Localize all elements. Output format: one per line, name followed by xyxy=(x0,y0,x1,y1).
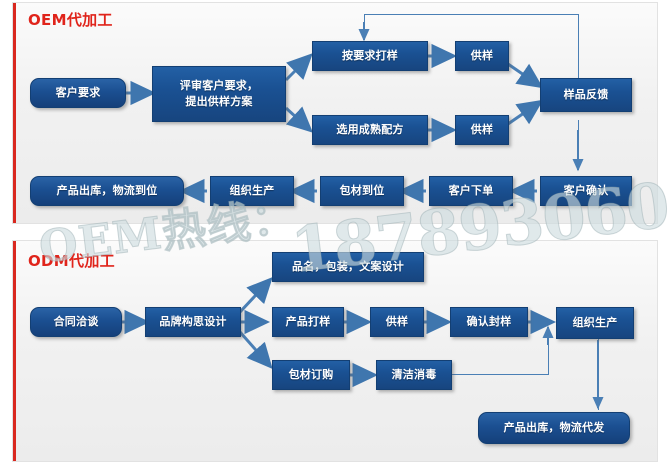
node-oem-kehuqueren[interactable]: 客户确认 xyxy=(540,176,632,206)
node-oem-kehuyaoqiu[interactable]: 客户要求 xyxy=(30,78,126,108)
panel-oem-title: OEM代加工 xyxy=(28,9,113,30)
conn-oem-feedback-across xyxy=(364,14,579,15)
node-odm-pinmingbaozhuang[interactable]: 品名，包装，文案设计 xyxy=(272,252,424,282)
panel-oem-red-rule xyxy=(13,3,16,223)
node-oem-anyaoqiudayang[interactable]: 按要求打样 xyxy=(312,41,428,71)
node-oem-gongyang-1[interactable]: 供样 xyxy=(455,41,509,71)
node-odm-qingjiexiaodu[interactable]: 清洁消毒 xyxy=(376,360,452,390)
node-oem-gongyang-2[interactable]: 供样 xyxy=(455,115,509,145)
node-odm-baocaidinggou[interactable]: 包材订购 xyxy=(272,360,350,390)
node-oem-baocaidaowei[interactable]: 包材到位 xyxy=(320,176,404,206)
node-oem-chukuwuliu[interactable]: 产品出库，物流到位 xyxy=(30,176,184,206)
node-odm-querenfengyang[interactable]: 确认封样 xyxy=(450,307,528,337)
conn-oem-sample-to-confirm xyxy=(578,120,579,168)
node-oem-zuzhishengchan[interactable]: 组织生产 xyxy=(210,176,294,206)
node-oem-kehuxiadan[interactable]: 客户下单 xyxy=(429,176,513,206)
node-oem-yangpinfankui[interactable]: 样品反馈 xyxy=(540,78,632,112)
node-oem-pingshen[interactable]: 评审客户要求， 提出供样方案 xyxy=(152,66,286,122)
conn-oem-feedback-down xyxy=(364,14,365,34)
conn-odm-clean-to-seal-v xyxy=(548,330,549,375)
node-odm-pinpaigousi[interactable]: 品牌构思设计 xyxy=(145,307,241,337)
conn-odm-prod-to-ship xyxy=(598,338,599,410)
node-odm-hetongqiatan[interactable]: 合同洽谈 xyxy=(30,307,122,337)
node-oem-xuanyongpeifang[interactable]: 选用成熟配方 xyxy=(312,115,428,145)
panel-odm-red-rule xyxy=(13,241,16,461)
node-odm-chanpindayang[interactable]: 产品打样 xyxy=(272,307,344,337)
panel-odm-title: ODM代加工 xyxy=(28,250,115,271)
node-odm-chukudaifa[interactable]: 产品出库，物流代发 xyxy=(478,412,630,444)
node-odm-gongyang[interactable]: 供样 xyxy=(370,307,424,337)
node-odm-zuzhishengchan[interactable]: 组织生产 xyxy=(556,307,634,339)
flowchart-image: OEM代加工 xyxy=(0,0,669,466)
